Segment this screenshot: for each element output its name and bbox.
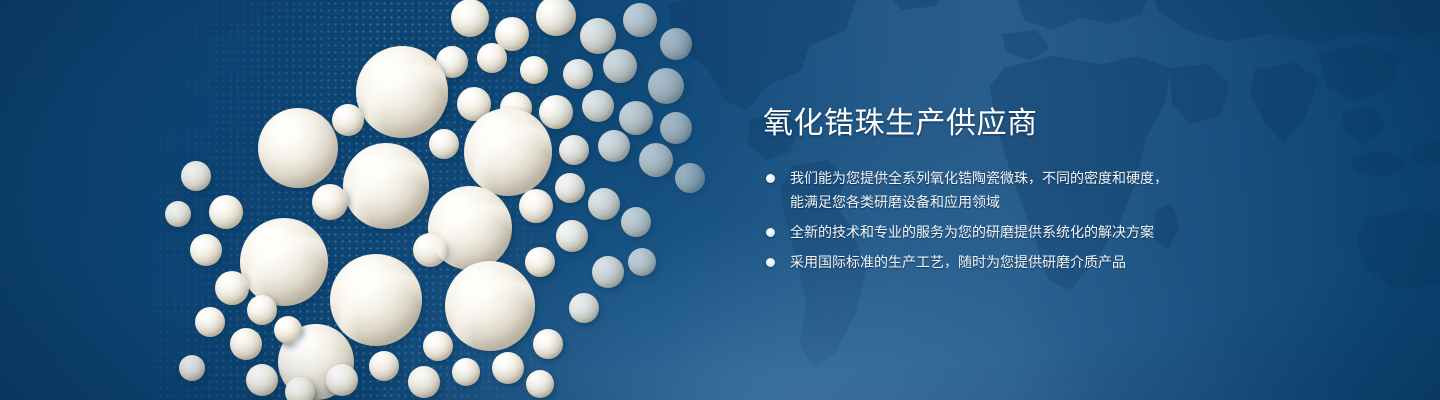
bullet-dot-icon	[766, 228, 775, 237]
bullet-item-3: 采用国际标准的生产工艺，随时为您提供研磨介质产品	[763, 250, 1323, 274]
hero-banner: 氧化锆珠生产供应商 我们能为您提供全系列氧化锆陶瓷微珠，不同的密度和硬度， 能满…	[0, 0, 1440, 400]
banner-headline: 氧化锆珠生产供应商	[763, 104, 1323, 144]
banner-text-block: 氧化锆珠生产供应商 我们能为您提供全系列氧化锆陶瓷微珠，不同的密度和硬度， 能满…	[763, 104, 1323, 274]
bullet-item-1-line-1: 我们能为您提供全系列氧化锆陶瓷微珠，不同的密度和硬度，	[790, 170, 1168, 186]
bullet-item-2: 全新的技术和专业的服务为您的研磨提供系统化的解决方案	[763, 220, 1323, 244]
bullet-dot-icon	[766, 258, 775, 267]
banner-bullet-list: 我们能为您提供全系列氧化锆陶瓷微珠，不同的密度和硬度， 能满足您各类研磨设备和应…	[763, 166, 1323, 274]
bullet-dot-icon	[766, 174, 775, 183]
bullet-item-1: 我们能为您提供全系列氧化锆陶瓷微珠，不同的密度和硬度， 能满足您各类研磨设备和应…	[763, 166, 1323, 214]
bullet-item-2-text: 全新的技术和专业的服务为您的研磨提供系统化的解决方案	[790, 220, 1323, 244]
bullet-item-3-text: 采用国际标准的生产工艺，随时为您提供研磨介质产品	[790, 250, 1323, 274]
bullet-item-1-line-2: 能满足您各类研磨设备和应用领域	[790, 190, 1323, 214]
bullet-item-1-text: 我们能为您提供全系列氧化锆陶瓷微珠，不同的密度和硬度， 能满足您各类研磨设备和应…	[790, 166, 1323, 214]
